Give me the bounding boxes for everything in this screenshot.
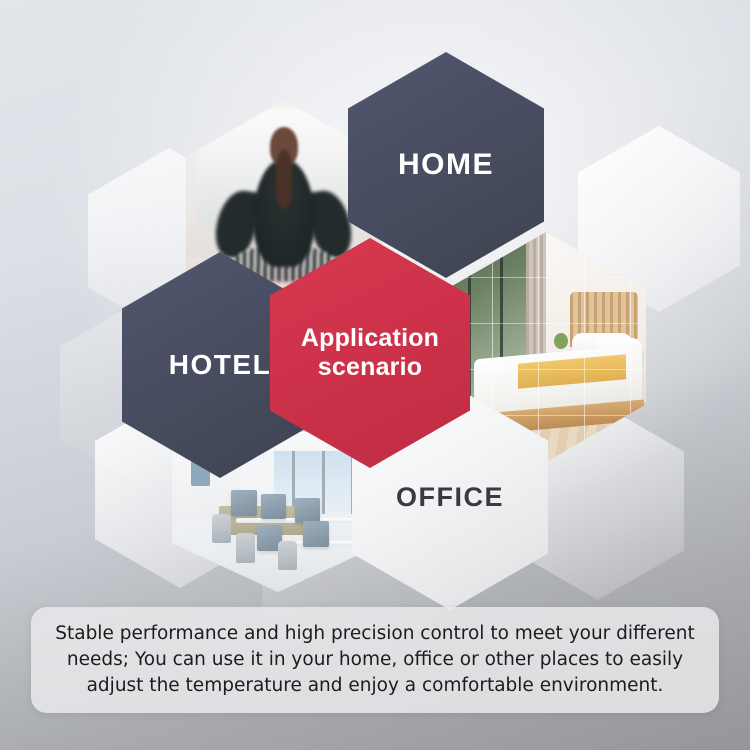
office-monitor bbox=[303, 521, 328, 546]
scenario-label-hotel: HOTEL bbox=[169, 349, 271, 381]
yoga-hair bbox=[276, 150, 292, 209]
center-label-line2: scenario bbox=[301, 353, 439, 382]
center-label-line1: Application bbox=[301, 324, 439, 353]
scenario-label-home: HOME bbox=[398, 148, 494, 182]
office-chair bbox=[236, 533, 255, 562]
scenario-label-office: OFFICE bbox=[396, 482, 504, 513]
center-label: Application scenario bbox=[301, 324, 439, 382]
infographic-canvas: HOME HOTEL OFFICE Application scenario S… bbox=[0, 0, 750, 750]
office-window-mullion bbox=[322, 451, 325, 514]
caption-panel: Stable performance and high precision co… bbox=[31, 607, 719, 713]
office-chair bbox=[278, 541, 297, 570]
office-monitor bbox=[261, 494, 286, 519]
office-monitor bbox=[295, 498, 320, 523]
caption-text: Stable performance and high precision co… bbox=[49, 621, 701, 699]
office-monitor bbox=[231, 490, 256, 515]
office-chair bbox=[212, 514, 231, 543]
